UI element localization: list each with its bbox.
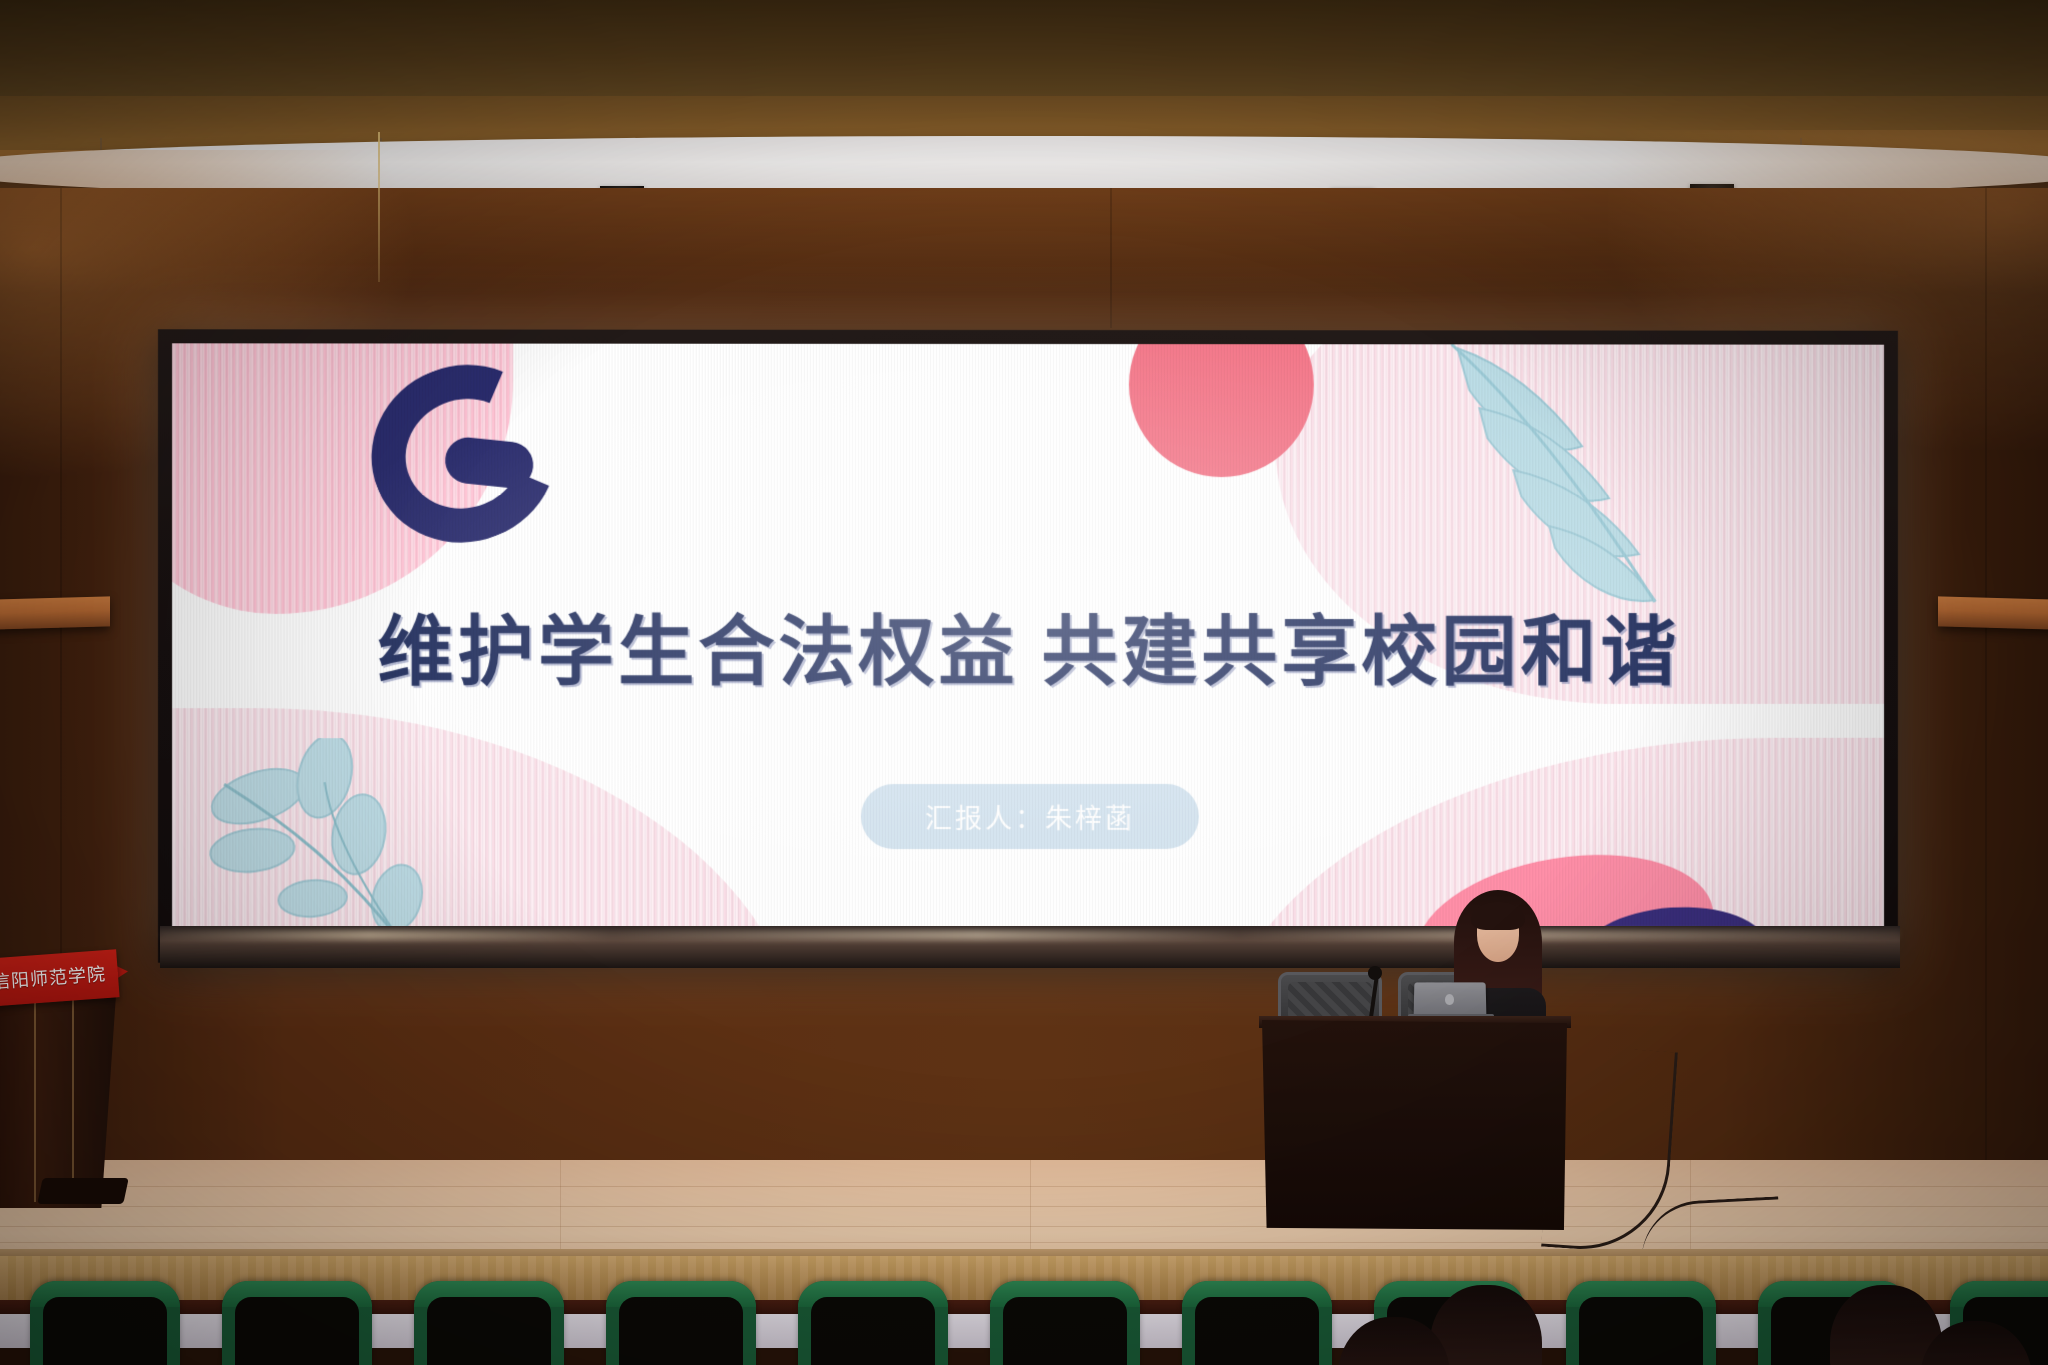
seat-cushion <box>1579 1297 1703 1365</box>
lectern-red-banner: 信阳师范学院 <box>0 949 120 1007</box>
led-screen-frame: 维护学生合法权益 共建共享校园和谐 汇报人：朱梓菡 <box>158 329 1898 962</box>
seat-cushion <box>1195 1297 1319 1365</box>
seat-cushion <box>619 1297 743 1365</box>
wall-panel-line <box>1985 188 1987 1178</box>
audience-seat <box>414 1281 564 1365</box>
audience-seat <box>30 1281 180 1365</box>
lectern-banner-text: 信阳师范学院 <box>0 960 107 994</box>
auditorium-photo: 维护学生合法权益 共建共享校园和谐 汇报人：朱梓菡 信阳师范学院 <box>0 0 2048 1365</box>
hanging-wire <box>378 132 380 282</box>
wall-ledge-right <box>1938 596 2048 629</box>
lectern-groove <box>72 990 74 1202</box>
floor-seam <box>1030 1160 1031 1250</box>
floor-plank-line <box>0 1186 2048 1187</box>
led-screen-bottom-bezel <box>160 926 1900 968</box>
blue-leafy-branch-icon <box>206 738 507 949</box>
presenter-fringe <box>1471 902 1525 930</box>
seat-cushion <box>43 1297 167 1365</box>
audience-seat <box>1566 1281 1716 1365</box>
presenter-desk <box>1262 1020 1567 1230</box>
audience-seat <box>606 1281 756 1365</box>
lectern <box>0 986 116 1208</box>
laptop-logo-icon <box>1445 994 1454 1005</box>
presentation-slide: 维护学生合法权益 共建共享校园和谐 汇报人：朱梓菡 <box>172 343 1884 948</box>
audience-seat <box>1182 1281 1332 1365</box>
laptop-screen <box>1414 982 1487 1016</box>
lectern-groove <box>34 990 36 1202</box>
presenter-badge-label: 汇报人：朱梓菡 <box>925 804 1135 834</box>
presenter-badge: 汇报人：朱梓菡 <box>861 784 1199 849</box>
wall-panel-line <box>1110 188 1112 328</box>
audience-seat <box>990 1281 1140 1365</box>
slide-title: 维护学生合法权益 共建共享校园和谐 <box>172 590 1884 700</box>
seat-cushion <box>1003 1297 1127 1365</box>
seat-cushion <box>811 1297 935 1365</box>
audience-seat <box>798 1281 948 1365</box>
floor-seam <box>560 1160 561 1250</box>
seat-cushion <box>235 1297 359 1365</box>
microphone-icon <box>1368 966 1382 980</box>
audience-seat <box>222 1281 372 1365</box>
wall-ledge-left <box>0 596 110 629</box>
lectern-base <box>37 1178 129 1204</box>
ceiling-shadow-band <box>0 0 2048 96</box>
seat-cushion <box>427 1297 551 1365</box>
